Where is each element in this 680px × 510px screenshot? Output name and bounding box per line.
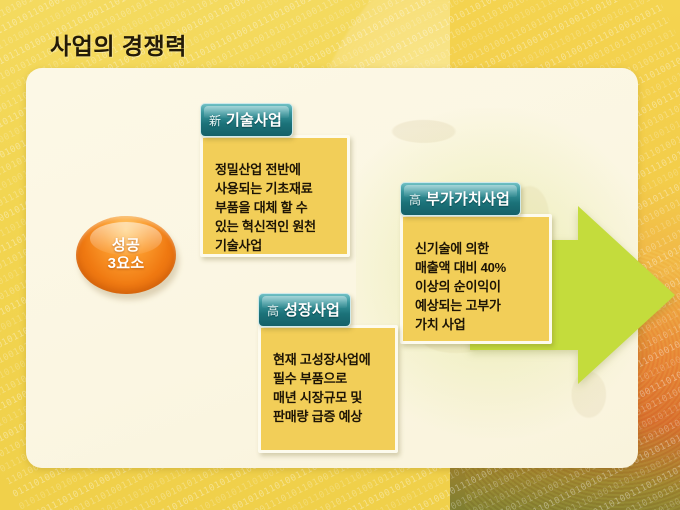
success-badge-line1: 성공 xyxy=(112,237,140,255)
card-new-tech-body: 정밀산업 전반에 사용되는 기초재료 부품을 대체 할 수 있는 혁신적인 원천… xyxy=(200,135,350,257)
card-high-growth-text: 현재 고성장사업에 필수 부품으로 매년 시장규모 및 판매량 급증 예상 xyxy=(273,350,385,426)
card-high-value-text: 신기술에 의한 매출액 대비 40% 이상의 순이익이 예상되는 고부가 가치 … xyxy=(415,239,539,334)
card-high-growth-body: 현재 고성장사업에 필수 부품으로 매년 시장규모 및 판매량 급증 예상 xyxy=(258,325,398,453)
card-high-growth-mark: 高 xyxy=(267,302,279,319)
card-new-tech-title: 기술사업 xyxy=(226,109,282,130)
card-high-value[interactable]: 高 부가가치사업 신기술에 의한 매출액 대비 40% 이상의 순이익이 예상되… xyxy=(400,182,552,344)
success-badge: 성공 3요소 xyxy=(76,216,180,300)
card-high-growth-title: 성장사업 xyxy=(284,299,340,320)
card-high-value-title: 부가가치사업 xyxy=(426,188,510,209)
card-high-value-mark: 高 xyxy=(409,191,421,208)
card-high-value-header[interactable]: 高 부가가치사업 xyxy=(400,182,521,216)
success-badge-line2: 3요소 xyxy=(108,255,145,273)
page-title: 사업의 경쟁력 xyxy=(50,27,187,61)
card-high-growth-header[interactable]: 高 성장사업 xyxy=(258,293,351,327)
presentation-slide: 0101101001110101101001011101001010110100… xyxy=(0,0,680,510)
success-badge-circle: 성공 3요소 xyxy=(76,216,176,294)
card-high-value-body: 신기술에 의한 매출액 대비 40% 이상의 순이익이 예상되는 고부가 가치 … xyxy=(400,214,552,344)
card-new-tech-text: 정밀산업 전반에 사용되는 기초재료 부품을 대체 할 수 있는 혁신적인 원천… xyxy=(215,160,337,255)
card-high-growth[interactable]: 高 성장사업 현재 고성장사업에 필수 부품으로 매년 시장규모 및 판매량 급… xyxy=(258,293,398,453)
card-new-tech-header[interactable]: 新 기술사업 xyxy=(200,103,293,137)
card-new-tech[interactable]: 新 기술사업 정밀산업 전반에 사용되는 기초재료 부품을 대체 할 수 있는 … xyxy=(200,103,350,257)
card-new-tech-mark: 新 xyxy=(209,112,221,129)
